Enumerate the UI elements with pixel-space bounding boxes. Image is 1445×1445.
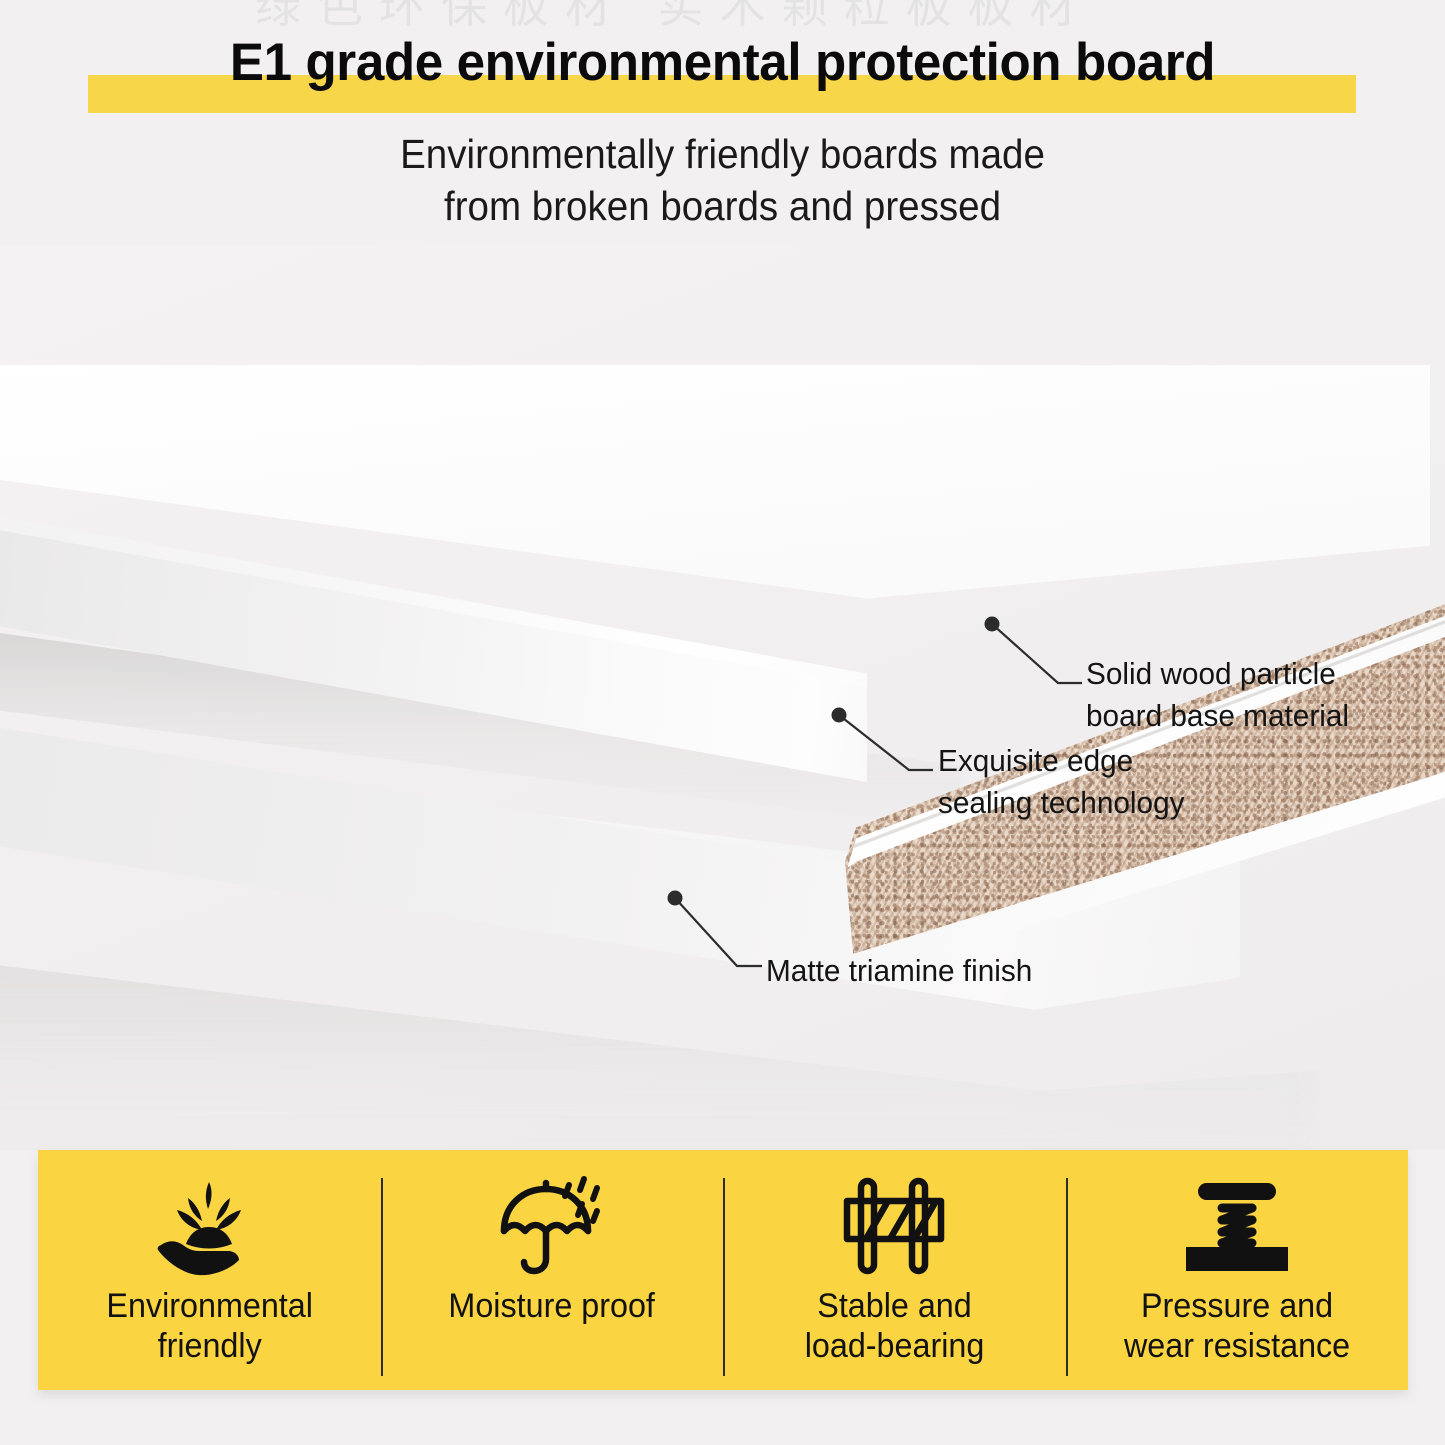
page-subtitle-line-1: Environmentally friendly boards made (43, 128, 1401, 180)
feature-1-line-1: Environmental (106, 1286, 312, 1326)
feature-1-line-2: friendly (106, 1326, 312, 1366)
page-subtitle: Environmentally friendly boards made fro… (43, 128, 1401, 233)
feature-divider (723, 1178, 725, 1376)
callout-3-line-1: Matte triamine finish (766, 950, 1032, 992)
feature-bar: Environmental friendly (38, 1150, 1408, 1390)
feature-item-environmental-friendly[interactable]: Environmental friendly (38, 1150, 381, 1390)
feature-divider (381, 1178, 383, 1376)
product-photo-scene: Solid wood particle board base material … (0, 245, 1445, 1150)
feature-3-line-2: load-bearing (804, 1326, 984, 1366)
road-barrier-icon (842, 1170, 946, 1282)
leader-dot (668, 891, 683, 906)
feature-item-moisture-proof[interactable]: Moisture proof (381, 1150, 724, 1390)
infographic-stage: 绿色环保板材 实木颗粒板板材 E1 grade environmental pr… (0, 0, 1445, 1445)
page-subtitle-line-2: from broken boards and pressed (43, 180, 1401, 232)
feature-label-stable-load-bearing: Stable and load-bearing (804, 1286, 984, 1366)
feature-2-line-1: Moisture proof (449, 1286, 655, 1326)
feature-label-moisture-proof: Moisture proof (449, 1286, 655, 1326)
umbrella-rain-icon (496, 1170, 608, 1282)
page-title: E1 grade environmental protection board (25, 36, 1419, 89)
feature-4-line-1: Pressure and (1124, 1286, 1350, 1326)
feature-item-stable-load-bearing[interactable]: Stable and load-bearing (723, 1150, 1066, 1390)
feature-item-pressure-wear-resistance[interactable]: Pressure and wear resistance (1066, 1150, 1409, 1390)
callout-matte-triamine: Matte triamine finish (0, 245, 1445, 1150)
feature-label-pressure-wear-resistance: Pressure and wear resistance (1124, 1286, 1350, 1366)
callout-matte-triamine-text: Matte triamine finish (766, 950, 1032, 992)
compression-spring-icon (1182, 1170, 1292, 1282)
feature-divider (1066, 1178, 1068, 1376)
hand-holding-sprout-icon (155, 1170, 263, 1282)
feature-4-line-2: wear resistance (1124, 1326, 1350, 1366)
title-wrap: E1 grade environmental protection board (0, 36, 1445, 89)
header: E1 grade environmental protection board … (0, 0, 1445, 245)
feature-label-environmental-friendly: Environmental friendly (106, 1286, 312, 1366)
feature-list: Environmental friendly (38, 1150, 1408, 1390)
feature-3-line-1: Stable and (804, 1286, 984, 1326)
